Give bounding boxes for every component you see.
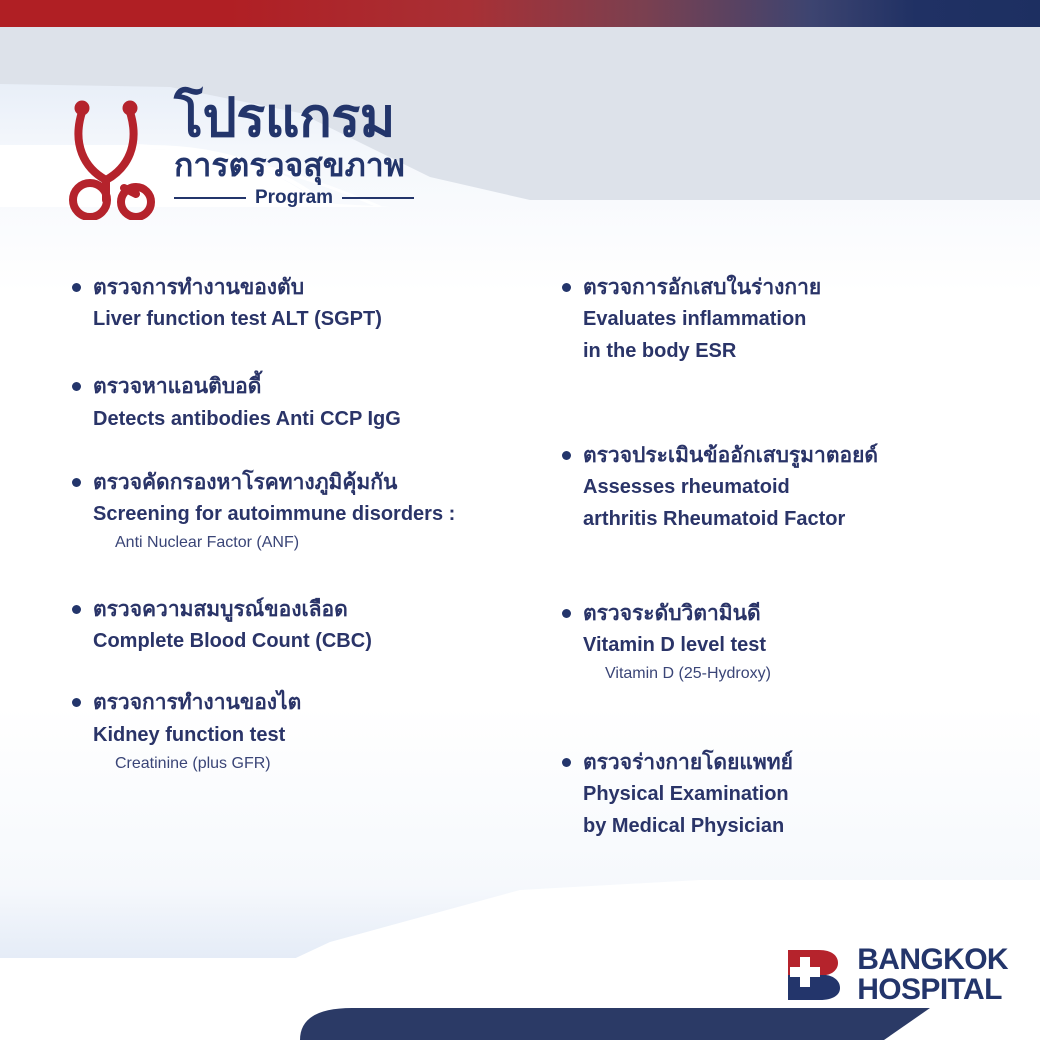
left-column: ตรวจการทำงานของตับLiver function test AL… xyxy=(62,272,532,777)
health-checkup-program-poster: โปรแกรม การตรวจสุขภาพ Program ตรวจการทำง… xyxy=(0,0,1040,1040)
title-block: โปรแกรม การตรวจสุขภาพ Program xyxy=(174,88,414,209)
checkup-item-thai: ตรวจการอักเสบในร่างกาย xyxy=(583,272,1002,303)
checkup-item-thai: ตรวจการทำงานของตับ xyxy=(93,272,532,303)
top-gradient-bar xyxy=(0,0,1040,27)
bangkok-hospital-b-cross-mark xyxy=(786,949,844,1001)
bullet-icon xyxy=(562,609,571,618)
bangkok-hospital-logo: BANGKOK HOSPITAL xyxy=(786,945,1008,1004)
checkup-item-english: Assesses rheumatoid xyxy=(583,471,1002,503)
bullet-icon xyxy=(562,451,571,460)
bottom-navy-shape xyxy=(0,1000,1040,1040)
checkup-item: ตรวจคัดกรองหาโรคทางภูมิคุ้มกันScreening … xyxy=(62,467,532,556)
checkup-item-english: Screening for autoimmune disorders : xyxy=(93,498,532,530)
checkup-item-english: Vitamin D level test xyxy=(583,629,1002,661)
checkup-item-note: Vitamin D (25-Hydroxy) xyxy=(583,661,1002,687)
checkup-item-english: by Medical Physician xyxy=(583,810,1002,842)
logo-line-1: BANGKOK xyxy=(857,945,1008,974)
checkup-item-note: Anti Nuclear Factor (ANF) xyxy=(93,530,532,556)
rule-right xyxy=(342,197,414,199)
checkup-item: ตรวจร่างกายโดยแพทย์Physical Examinationb… xyxy=(552,747,1002,843)
bullet-icon xyxy=(72,382,81,391)
checkup-item-english: Evaluates inflammation xyxy=(583,303,1002,335)
bullet-icon xyxy=(72,478,81,487)
checkup-item-thai: ตรวจคัดกรองหาโรคทางภูมิคุ้มกัน xyxy=(93,467,532,498)
poster-header: โปรแกรม การตรวจสุขภาพ Program xyxy=(62,88,414,220)
checkup-item-english: Detects antibodies Anti CCP IgG xyxy=(93,403,532,435)
checkup-item-note: Creatinine (plus GFR) xyxy=(93,751,532,777)
checkup-item-english: Kidney function test xyxy=(93,719,532,751)
checkup-item-thai: ตรวจหาแอนติบอดี้ xyxy=(93,371,532,402)
checkup-item: ตรวจประเมินข้ออักเสบรูมาตอยด์Assesses rh… xyxy=(552,440,1002,536)
checkup-item: ตรวจความสมบูรณ์ของเลือดComplete Blood Co… xyxy=(62,594,532,657)
title-thai-sub: การตรวจสุขภาพ xyxy=(174,147,414,184)
checkup-item-english: Liver function test ALT (SGPT) xyxy=(93,303,532,335)
checkup-item-english: Complete Blood Count (CBC) xyxy=(93,625,532,657)
bullet-icon xyxy=(562,283,571,292)
checkup-item-thai: ตรวจระดับวิตามินดี xyxy=(583,598,1002,629)
bullet-icon xyxy=(72,605,81,614)
stethoscope-heart-icon xyxy=(62,88,166,220)
checkup-item: ตรวจระดับวิตามินดีVitamin D level testVi… xyxy=(552,598,1002,687)
logo-line-2: HOSPITAL xyxy=(857,975,1008,1004)
checkup-item: ตรวจหาแอนติบอดี้Detects antibodies Anti … xyxy=(62,371,532,434)
checkup-item-thai: ตรวจการทำงานของไต xyxy=(93,687,532,718)
checkup-item-thai: ตรวจประเมินข้ออักเสบรูมาตอยด์ xyxy=(583,440,1002,471)
checkup-item-english: Physical Examination xyxy=(583,778,1002,810)
checkup-item-english: in the body ESR xyxy=(583,335,1002,367)
title-program: Program xyxy=(246,187,342,209)
rule-left xyxy=(174,197,246,199)
bangkok-hospital-wordmark: BANGKOK HOSPITAL xyxy=(857,945,1008,1004)
checkup-item: ตรวจการอักเสบในร่างกายEvaluates inflamma… xyxy=(552,272,1002,368)
bullet-icon xyxy=(562,758,571,767)
checkup-item-thai: ตรวจความสมบูรณ์ของเลือด xyxy=(93,594,532,625)
checkup-item-english: arthritis Rheumatoid Factor xyxy=(583,503,1002,535)
checkup-item-thai: ตรวจร่างกายโดยแพทย์ xyxy=(583,747,1002,778)
checkup-item: ตรวจการทำงานของตับLiver function test AL… xyxy=(62,272,532,335)
program-rule-row: Program xyxy=(174,187,414,209)
bullet-icon xyxy=(72,283,81,292)
checkup-item: ตรวจการทำงานของไตKidney function testCre… xyxy=(62,687,532,776)
right-column: ตรวจการอักเสบในร่างกายEvaluates inflamma… xyxy=(552,272,1002,843)
title-thai-main: โปรแกรม xyxy=(174,92,414,145)
bullet-icon xyxy=(72,698,81,707)
